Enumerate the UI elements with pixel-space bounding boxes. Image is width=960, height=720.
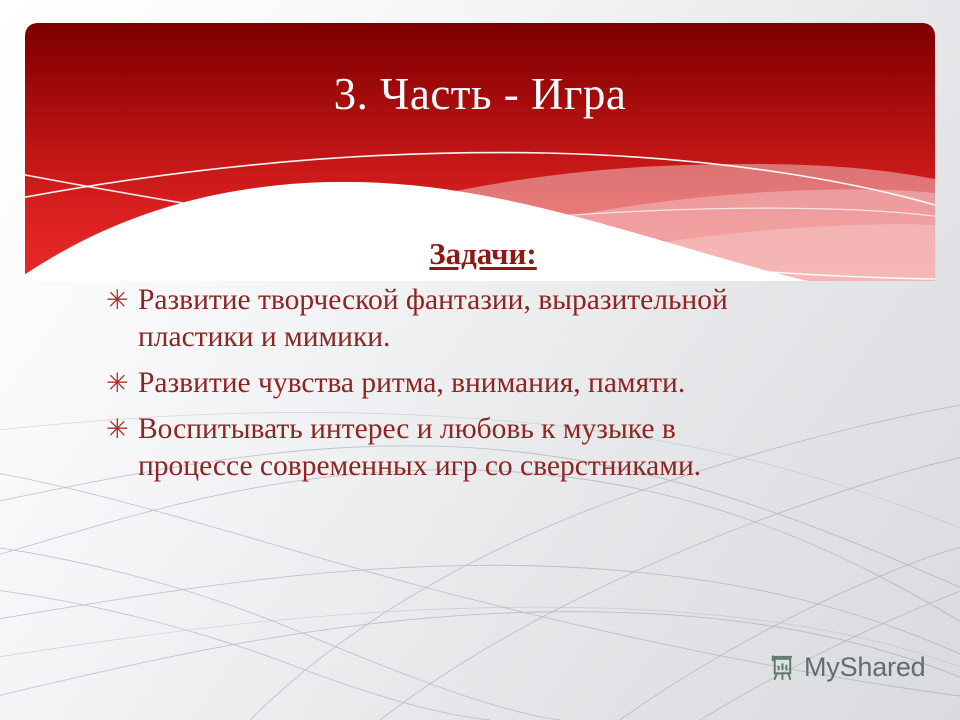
asterisk-bullet-icon: ✳ [106,283,129,317]
presentation-slide: 3. Часть - Игра Задачи: ✳ Развитие творч… [0,0,960,720]
list-item-label: Развитие творческой фантазии, выразитель… [138,282,778,356]
asterisk-bullet-icon: ✳ [106,366,129,400]
watermark-label: MyShared [804,654,925,681]
objectives-list: ✳ Развитие творческой фантазии, выразите… [106,282,896,486]
list-item: ✳ Развитие творческой фантазии, выразите… [106,282,896,356]
list-item-label: Развитие чувства ритма, внимания, памяти… [138,365,778,402]
list-item: ✳ Воспитывать интерес и любовь к музыке … [106,411,896,485]
list-item-label: Воспитывать интерес и любовь к музыке в … [138,411,778,485]
myshared-watermark: MyShared [766,652,925,683]
tasks-heading: Задачи: [0,236,960,272]
slide-body: Задачи: ✳ Развитие творческой фантазии, … [0,236,960,494]
asterisk-bullet-icon: ✳ [106,412,129,446]
presentation-screen-icon [766,652,797,683]
page-title: 3. Часть - Игра [25,70,935,120]
list-item: ✳ Развитие чувства ритма, внимания, памя… [106,365,896,402]
